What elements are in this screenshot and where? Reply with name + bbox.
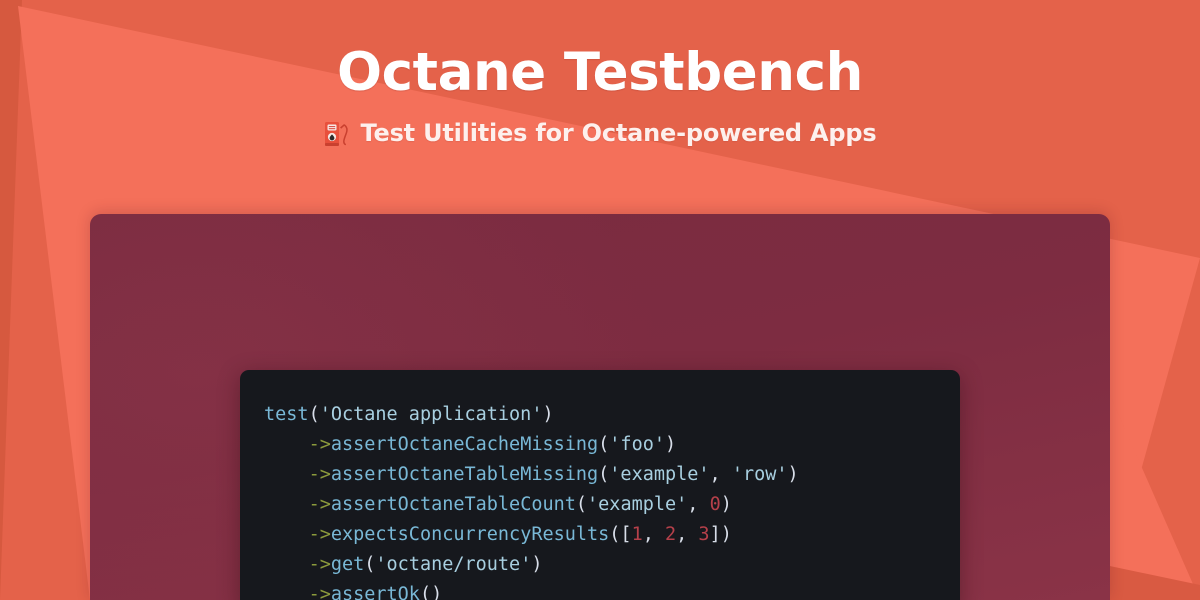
code-line: ->assertOctaneCacheMissing('foo') xyxy=(264,434,676,455)
code-token-str: 'Octane application' xyxy=(320,404,543,425)
code-token-punct: () xyxy=(420,584,442,600)
subtitle-row: Test Utilities for Octane-powered Apps xyxy=(0,119,1200,147)
code-token-arrow: -> xyxy=(309,524,331,545)
code-token-str: 'foo' xyxy=(609,434,665,455)
code-token-punct: , xyxy=(687,494,709,515)
code-token-punct: ) xyxy=(542,404,553,425)
code-token-arrow: -> xyxy=(309,464,331,485)
code-token-str: 'row' xyxy=(732,464,788,485)
code-token-str: 'example' xyxy=(587,494,687,515)
code-token-fn: assertOctaneCacheMissing xyxy=(331,434,598,455)
code-token-arrow: -> xyxy=(309,554,331,575)
code-token-num: 3 xyxy=(698,524,709,545)
code-token-punct: ) xyxy=(721,494,732,515)
code-sample-block: test('Octane application') ->assertOctan… xyxy=(240,370,960,600)
code-token-punct: ( xyxy=(576,494,587,515)
code-token-fn: assertOk xyxy=(331,584,420,600)
code-token-arrow: -> xyxy=(309,494,331,515)
fuel-pump-icon xyxy=(324,119,350,147)
code-token-fn: test xyxy=(264,404,309,425)
code-indent xyxy=(264,464,309,485)
page-header: Octane Testbench Test Utilities for Octa… xyxy=(0,0,1200,147)
code-token-punct: , xyxy=(676,524,698,545)
code-lines: test('Octane application') ->assertOctan… xyxy=(264,404,799,600)
code-token-punct: ( xyxy=(598,434,609,455)
code-token-punct: ( xyxy=(364,554,375,575)
code-token-fn: get xyxy=(331,554,364,575)
code-indent xyxy=(264,584,309,600)
code-token-fn: assertOctaneTableCount xyxy=(331,494,576,515)
code-token-punct: ( xyxy=(598,464,609,485)
code-token-fn: expectsConcurrencyResults xyxy=(331,524,609,545)
code-token-num: 0 xyxy=(710,494,721,515)
showcase-card: test('Octane application') ->assertOctan… xyxy=(90,214,1110,600)
code-token-punct: , xyxy=(643,524,665,545)
code-line: ->expectsConcurrencyResults([1, 2, 3]) xyxy=(264,524,732,545)
code-line: ->get('octane/route') xyxy=(264,554,542,575)
page-subtitle: Test Utilities for Octane-powered Apps xyxy=(361,119,877,147)
code-token-str: 'example' xyxy=(609,464,709,485)
code-token-punct: ( xyxy=(309,404,320,425)
code-token-punct: , xyxy=(710,464,732,485)
code-indent xyxy=(264,524,309,545)
code-indent xyxy=(264,494,309,515)
code-token-punct: ) xyxy=(665,434,676,455)
code-token-punct: ) xyxy=(531,554,542,575)
code-sample: test('Octane application') ->assertOctan… xyxy=(240,400,960,600)
code-indent xyxy=(264,554,309,575)
code-token-num: 1 xyxy=(632,524,643,545)
page-title: Octane Testbench xyxy=(0,46,1200,99)
code-line: test('Octane application') xyxy=(264,404,554,425)
code-token-arrow: -> xyxy=(309,584,331,600)
code-token-punct: ) xyxy=(788,464,799,485)
code-token-punct: ([ xyxy=(609,524,631,545)
code-token-str: 'octane/route' xyxy=(375,554,531,575)
code-token-fn: assertOctaneTableMissing xyxy=(331,464,598,485)
code-token-num: 2 xyxy=(665,524,676,545)
code-token-arrow: -> xyxy=(309,434,331,455)
code-token-punct: ]) xyxy=(710,524,732,545)
code-line: ->assertOctaneTableMissing('example', 'r… xyxy=(264,464,799,485)
code-indent xyxy=(264,434,309,455)
code-line: ->assertOctaneTableCount('example', 0) xyxy=(264,494,732,515)
code-line: ->assertOk() xyxy=(264,584,442,600)
